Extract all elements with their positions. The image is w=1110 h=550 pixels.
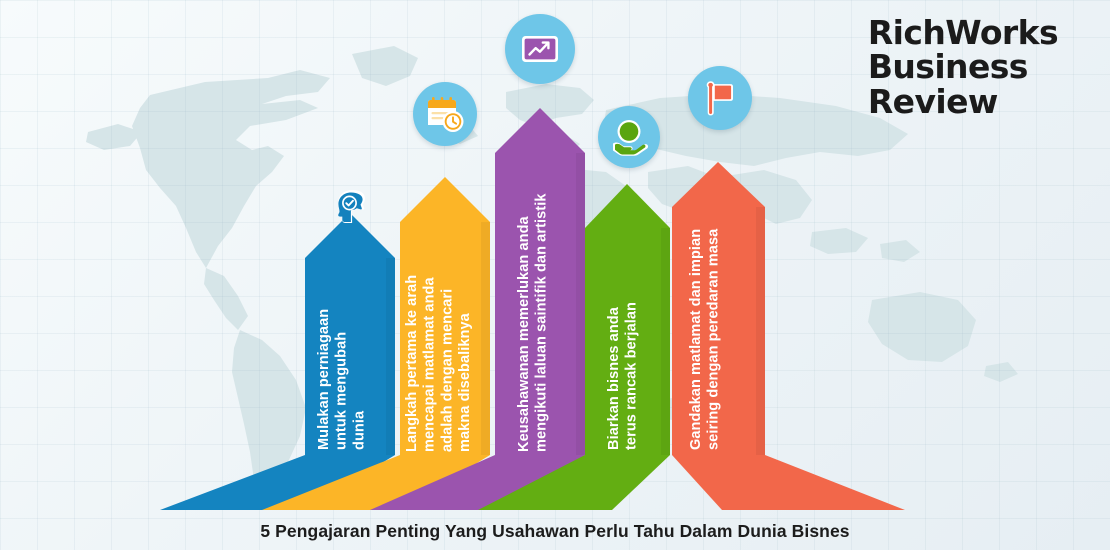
icon-badge-1[interactable] — [330, 185, 376, 231]
arrow-floor-5 — [672, 455, 905, 510]
arrow-label-4: Biarkan bisnes anda terus rancak berjala… — [606, 282, 641, 450]
brand-line-1: RichWorks — [868, 16, 1058, 50]
icon-badge-4[interactable] — [598, 106, 660, 168]
infographic-canvas: Mulakan perniagaan untuk mengubah dunia … — [0, 0, 1110, 550]
head-check-icon — [330, 185, 376, 231]
icon-badge-3[interactable] — [505, 14, 575, 84]
icon-badge-5[interactable] — [688, 66, 752, 130]
flag-icon — [699, 77, 741, 119]
arrow-label-2: Langkah pertama ke arah mencapai matlama… — [404, 230, 475, 452]
calendar-clock-icon — [423, 92, 467, 136]
hand-holding-sphere-icon — [607, 115, 651, 159]
brand-logo: RichWorks Business Review — [868, 16, 1058, 119]
page-caption: 5 Pengajaran Penting Yang Usahawan Perlu… — [0, 521, 1110, 542]
icon-badge-2[interactable] — [413, 82, 477, 146]
brand-line-3: Review — [868, 85, 1058, 119]
arrow-label-1: Mulakan perniagaan untuk mengubah dunia — [316, 290, 369, 450]
brand-line-2: Business — [868, 50, 1058, 84]
growth-chart-icon — [517, 26, 563, 72]
arrow-label-5: Gandakan matlamat dan impian seiring den… — [688, 190, 723, 450]
arrow-label-3: Keusahawanan memerlukan anda mengikuti l… — [516, 152, 551, 452]
